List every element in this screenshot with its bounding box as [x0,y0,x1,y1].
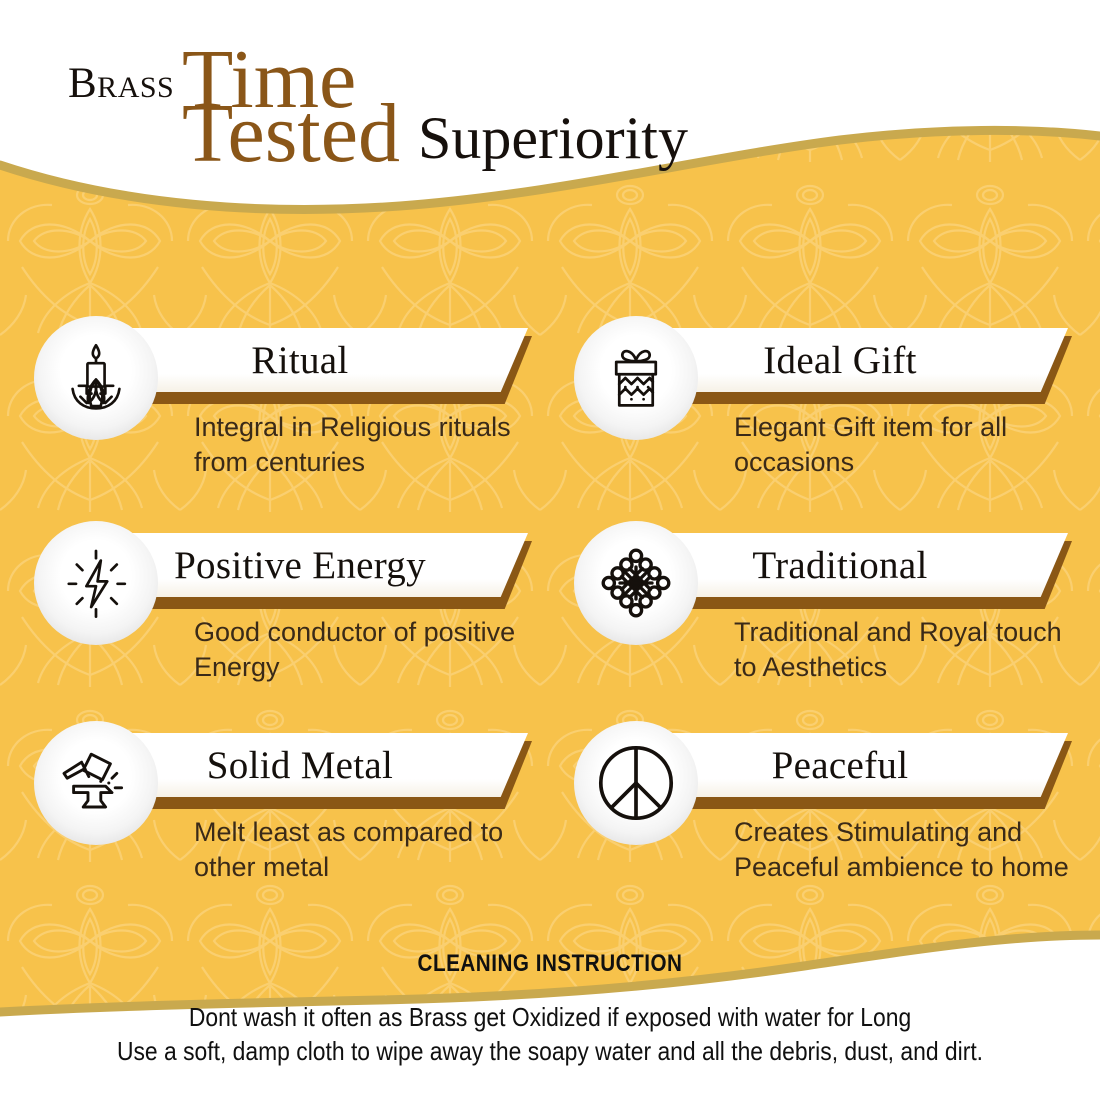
infographic-page: Brass Time Tested Superiority Ritual [0,0,1100,1100]
card-title: Solid Metal [108,733,492,797]
icon-badge [574,521,698,645]
card-title: Ritual [108,328,492,392]
gift-box-icon [598,340,674,416]
feature-card-ideal-gift: Ideal Gift [574,316,1074,516]
candle-lotus-icon [57,339,135,417]
lightning-bolt-icon [56,543,136,623]
icon-badge [574,721,698,845]
hammer-anvil-icon [56,743,136,823]
card-description: Creates Stimulating and Peaceful ambienc… [734,815,1072,885]
card-banner: Traditional [648,533,1072,609]
card-banner: Positive Energy [108,533,532,609]
card-banner: Peaceful [648,733,1072,809]
card-description: Traditional and Royal touch to Aesthetic… [734,615,1064,685]
feature-card-solid-metal: Solid Metal [34,721,534,921]
cleaning-instruction-heading: CLEANING INSTRUCTION [77,950,1023,978]
card-description: Elegant Gift item for all occasions [734,410,1064,480]
card-title: Positive Energy [108,533,492,597]
icon-badge [34,316,158,440]
feature-card-traditional: Traditional [574,521,1074,721]
card-banner: Solid Metal [108,733,532,809]
card-description: Melt least as compared to other metal [194,815,524,885]
icon-badge [574,316,698,440]
card-description: Good conductor of positive Energy [194,615,524,685]
icon-badge [34,521,158,645]
card-description: Integral in Religious rituals from centu… [194,410,524,480]
feature-card-positive-energy: Positive Energy [34,521,534,721]
feature-card-peaceful: Peaceful Creates Stimulating and Peacefu… [574,721,1074,921]
card-banner: Ritual [108,328,532,404]
feature-card-ritual: Ritual [34,316,534,516]
endless-knot-icon [596,543,676,623]
cleaning-instruction-section: CLEANING INSTRUCTION Dont wash it often … [0,950,1100,1069]
feature-card-grid: Ritual [0,0,1100,1100]
icon-badge [34,721,158,845]
card-title: Peaceful [648,733,1032,797]
cleaning-instruction-line-1: Dont wash it often as Brass get Oxidized… [66,1000,1034,1034]
card-title: Ideal Gift [648,328,1032,392]
card-title: Traditional [648,533,1032,597]
peace-sign-icon [592,739,680,827]
card-banner: Ideal Gift [648,328,1072,404]
cleaning-instruction-line-2: Use a soft, damp cloth to wipe away the … [66,1034,1034,1068]
